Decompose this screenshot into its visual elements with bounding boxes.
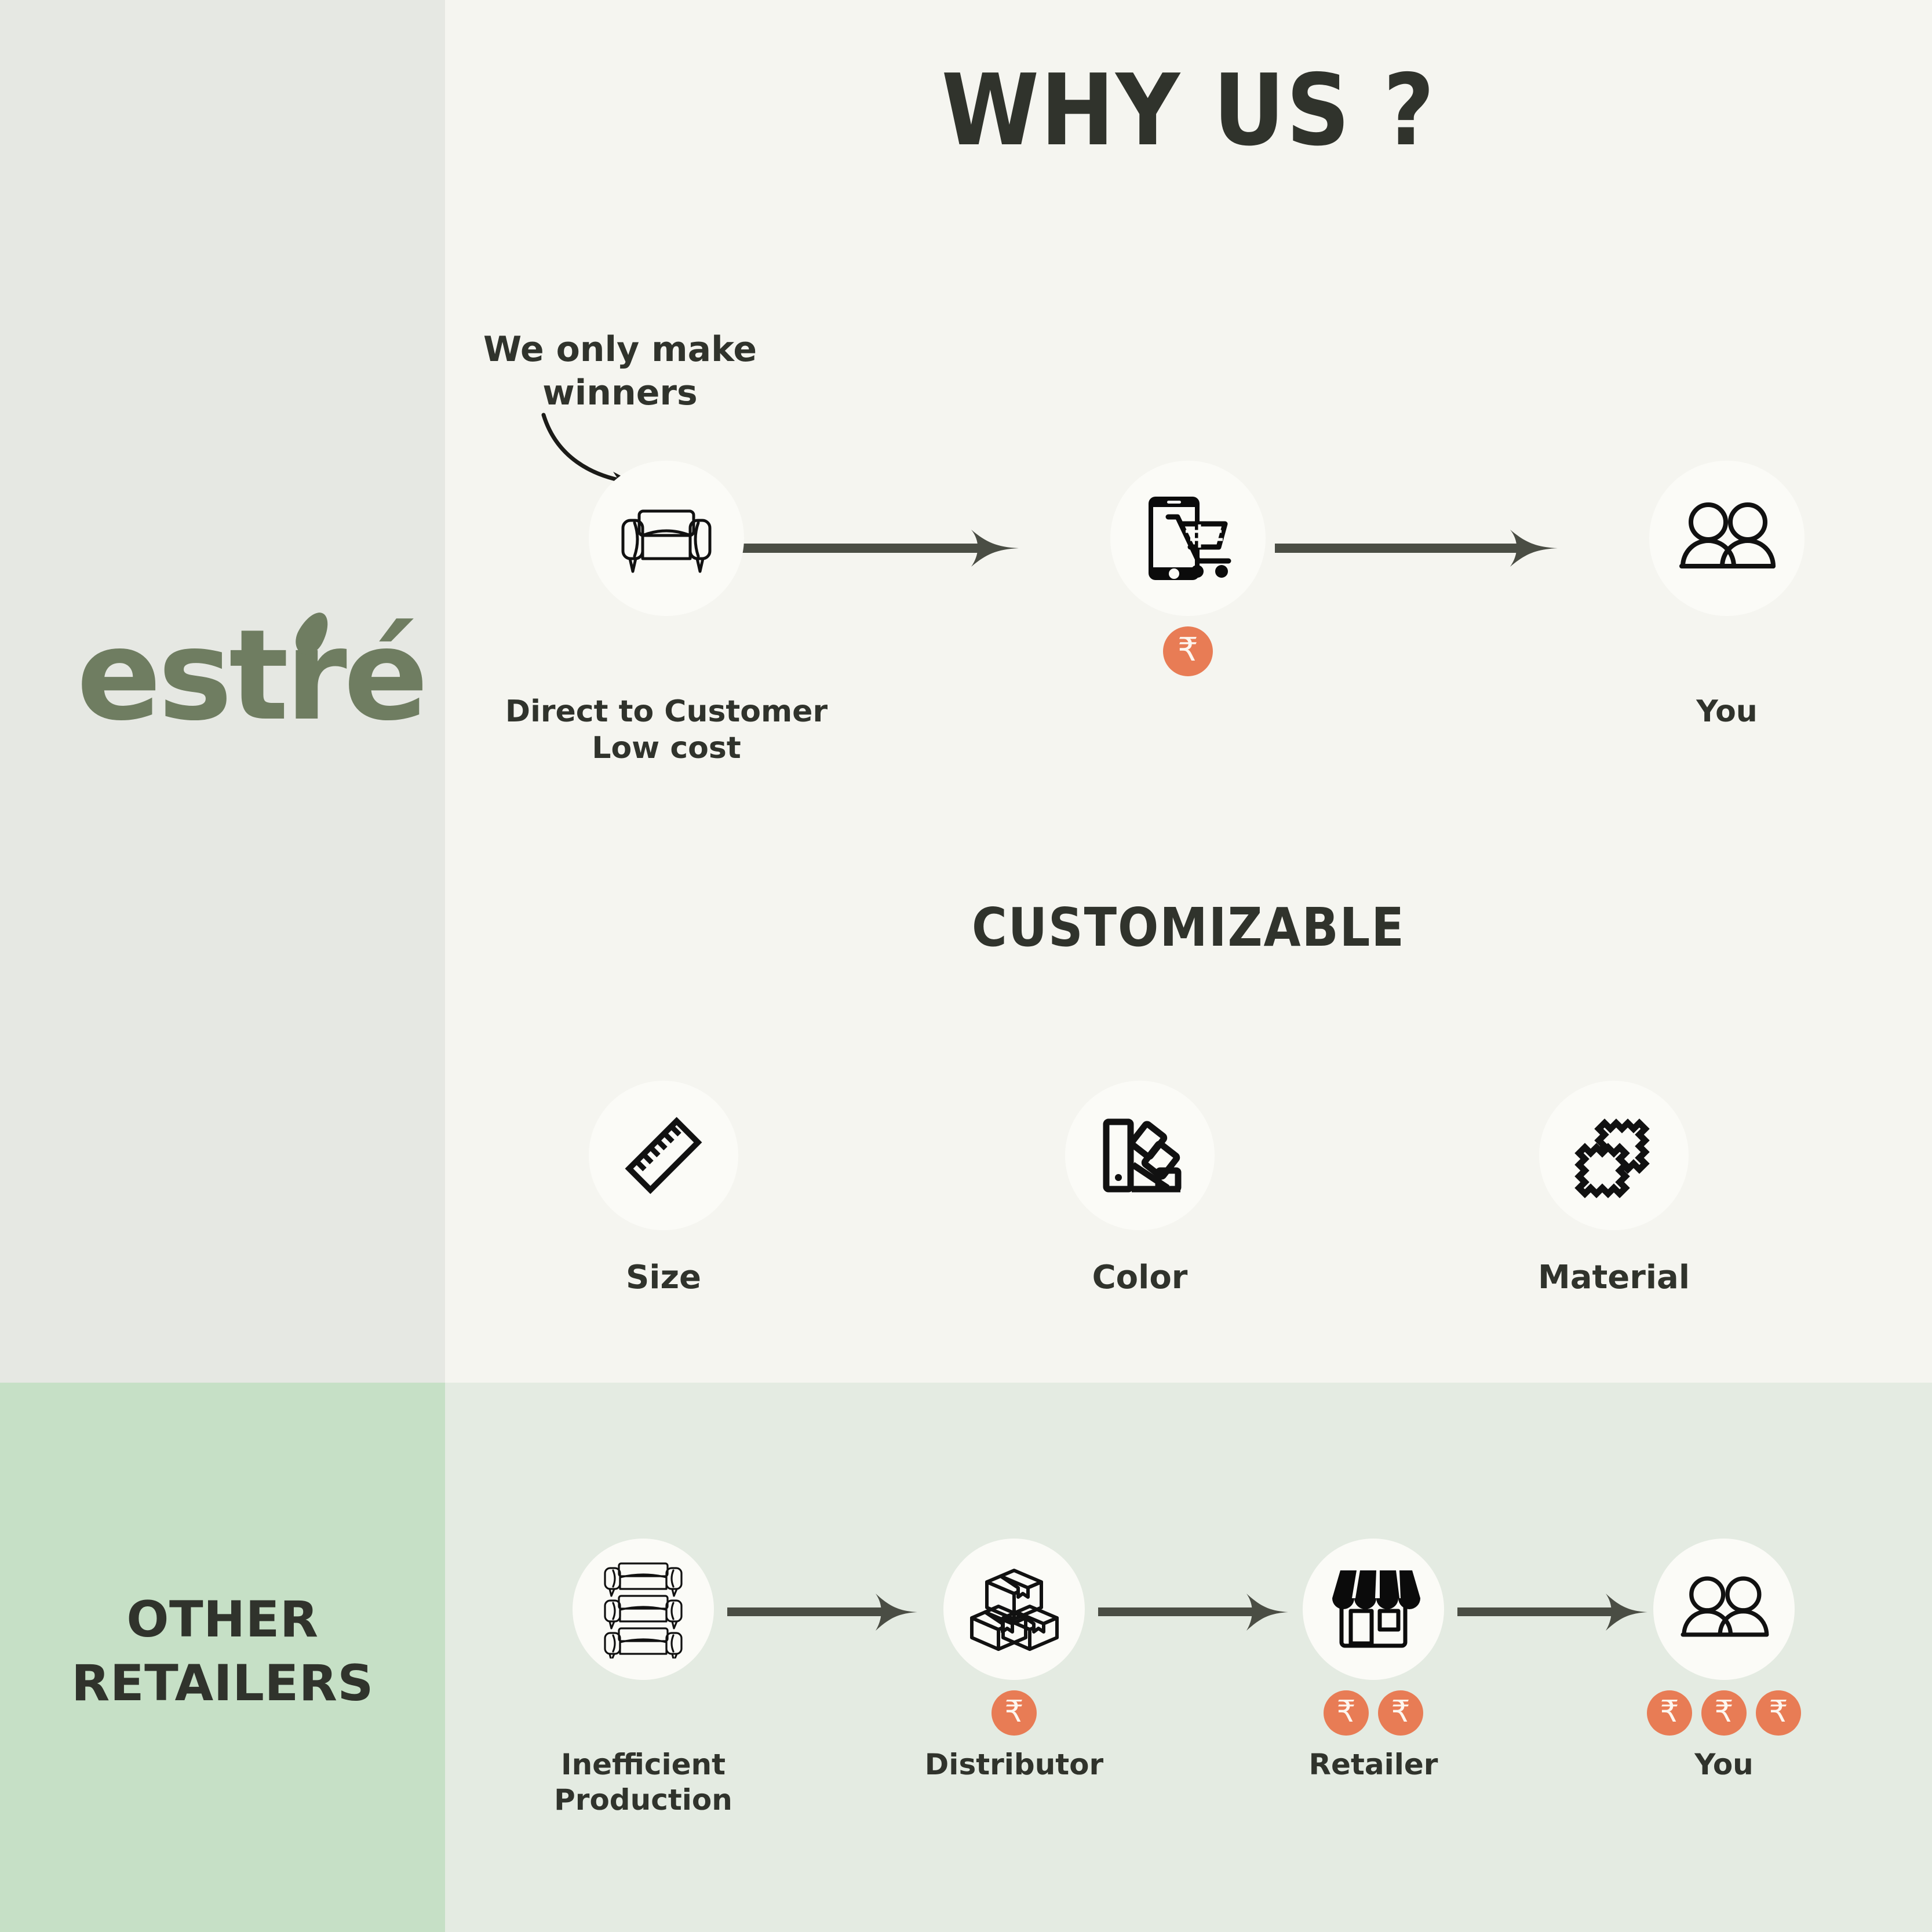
color-swatch-icon	[1093, 1109, 1186, 1202]
customizable-label: Material	[1530, 1258, 1698, 1297]
people-bubble	[1649, 461, 1805, 616]
stacked-sofas-bubble	[573, 1539, 714, 1680]
customizable-title: CUSTOMIZABLE	[445, 896, 1932, 958]
customizable-item-color: Color	[1056, 1081, 1224, 1297]
brand-logo-text: estré	[76, 603, 425, 748]
flow-node-label: You	[1565, 694, 1889, 730]
rupee-badge: ₹	[1701, 1690, 1747, 1736]
label-line1: Direct to Customer	[504, 694, 829, 730]
storefront-bubble	[1303, 1539, 1444, 1680]
rupee-badges-you: ₹ ₹ ₹	[1591, 1690, 1857, 1737]
stacked-boxes-icon	[967, 1566, 1061, 1653]
other-retailers-line2: RETAILERS	[0, 1652, 445, 1715]
annotation-text: We only make winners	[440, 328, 800, 415]
other-retailers-title: OTHER RETAILERS	[0, 1588, 445, 1715]
rupee-badge: ₹	[1163, 626, 1213, 676]
rupee-badges-distributor: ₹	[881, 1690, 1147, 1737]
label-line1: You	[1591, 1747, 1857, 1782]
flow-node-you-top: You	[1565, 461, 1889, 730]
flow-node-label: Distributor	[881, 1747, 1147, 1782]
sofa-icon	[617, 501, 716, 576]
two-people-icon	[1675, 498, 1779, 579]
label-line1: Inefficient	[510, 1747, 777, 1782]
customizable-item-size: Size	[579, 1081, 748, 1297]
ruler-bubble	[589, 1081, 738, 1230]
flow-node-label: You	[1591, 1747, 1857, 1782]
label-line2: Low cost	[504, 730, 829, 767]
label-line2: Production	[510, 1782, 777, 1818]
two-people-icon	[1676, 1572, 1772, 1646]
rupee-badge: ₹	[1378, 1690, 1423, 1736]
rupee-badges-retailer: ₹ ₹	[1240, 1690, 1507, 1737]
flow-node-distributor: ₹ Distributor	[881, 1539, 1147, 1782]
other-retailers-line1: OTHER	[0, 1588, 445, 1652]
stacked-boxes-bubble	[943, 1539, 1085, 1680]
label-line1: You	[1565, 694, 1889, 730]
flow-node-inefficient-production: Inefficient Production	[510, 1539, 777, 1818]
ruler-icon	[617, 1109, 710, 1202]
flow-node-label: Inefficient Production	[510, 1747, 777, 1818]
customizable-label: Color	[1056, 1258, 1224, 1297]
flow-node-online-store: ₹	[1026, 461, 1350, 694]
rupee-badge: ₹	[1647, 1690, 1692, 1736]
rupee-badges-node2: ₹	[1026, 626, 1350, 673]
stacked-sofas-icon	[597, 1560, 690, 1658]
label-line1: Distributor	[881, 1747, 1147, 1782]
rupee-badge: ₹	[1756, 1690, 1801, 1736]
mobile-shopping-cart-icon	[1136, 486, 1240, 590]
annotation-line2: winners	[440, 371, 800, 415]
brand-logo: estré	[76, 613, 425, 738]
rupee-badge: ₹	[991, 1690, 1037, 1736]
fabric-swatch-bubble	[1539, 1081, 1689, 1230]
annotation-line1: We only make	[440, 328, 800, 371]
label-line1: Retailer	[1240, 1747, 1507, 1782]
fabric-swatch-icon	[1568, 1109, 1660, 1202]
page-title: WHY US ?	[445, 53, 1932, 168]
flow-node-label: Direct to Customer Low cost	[504, 694, 829, 767]
mobile-cart-bubble	[1110, 461, 1266, 616]
flow-node-label: Retailer	[1240, 1747, 1507, 1782]
sofa-bubble	[589, 461, 744, 616]
rupee-badge: ₹	[1324, 1690, 1369, 1736]
customizable-label: Size	[579, 1258, 748, 1297]
flow-node-retailer: ₹ ₹ Retailer	[1240, 1539, 1507, 1782]
color-swatch-bubble	[1065, 1081, 1215, 1230]
people-bubble	[1653, 1539, 1795, 1680]
flow-node-direct-to-customer: Direct to Customer Low cost	[504, 461, 829, 767]
storefront-icon	[1326, 1566, 1420, 1653]
flow-node-you-bottom: ₹ ₹ ₹ You	[1591, 1539, 1857, 1782]
customizable-item-material: Material	[1530, 1081, 1698, 1297]
